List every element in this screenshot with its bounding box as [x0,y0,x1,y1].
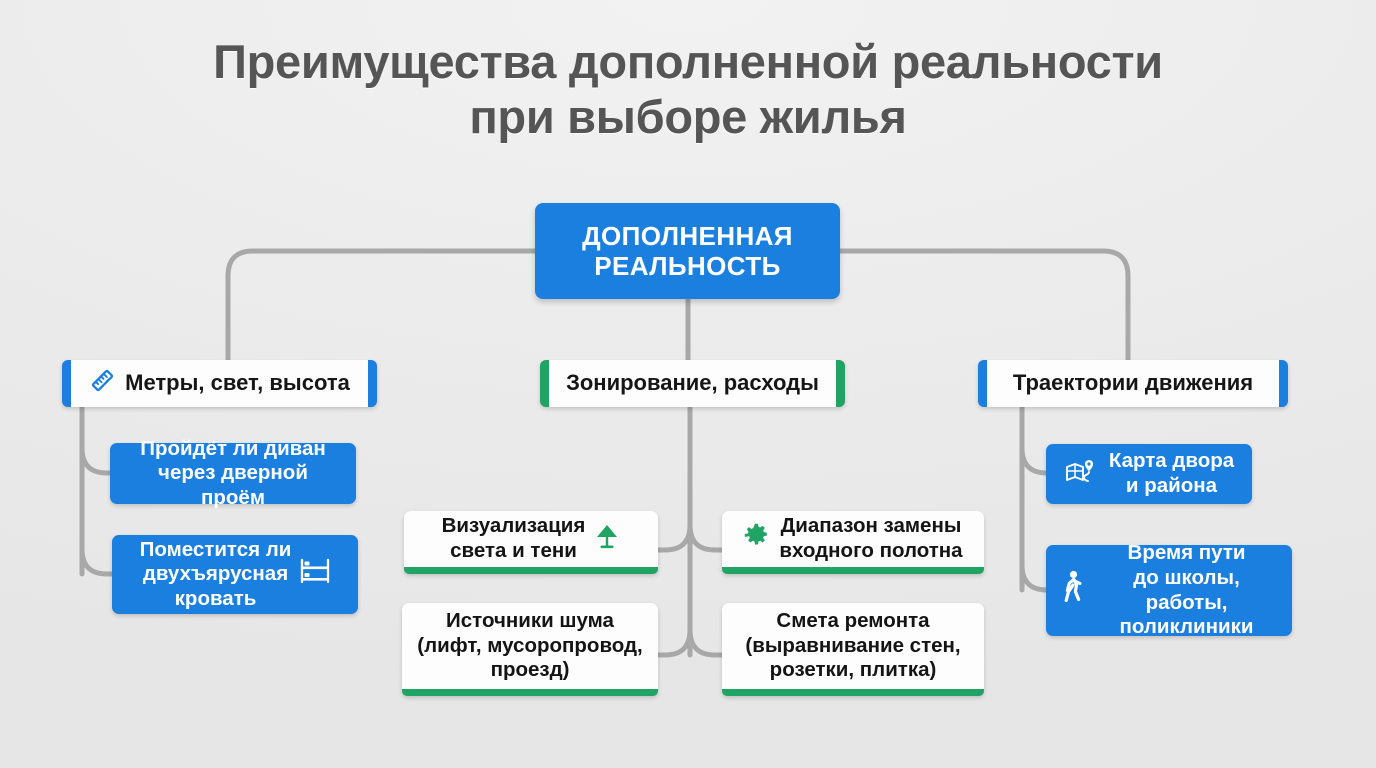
branch-header-center[interactable]: Зонирование, расходы [540,360,845,407]
leaf-right-travel-time[interactable]: Время пути до школы, работы, поликлиники [1046,545,1292,636]
lamp-icon [594,522,620,557]
branch-header-center-label: Зонирование, расходы [566,371,819,395]
leaf-right-travel-time-label: Время пути до школы, работы, поликлиники [1095,541,1278,639]
leaf-center-door-replacement-label: Диапазон замены входного полотна [779,514,962,563]
leaf-center-renovation-estimate-label: Смета ремонта (выравнивание стен, розетк… [745,609,960,683]
leaf-left-bunk-bed[interactable]: Поместится ли двухъярусная кровать [112,535,358,614]
root-node-augmented-reality[interactable]: ДОПОЛНЕННАЯ РЕАЛЬНОСТЬ [535,203,840,299]
connector-root-to-right [840,251,1128,360]
leaf-center-noise-sources[interactable]: Источники шума (лифт, мусоропровод, прое… [402,603,658,696]
leaf-right-yard-map[interactable]: Карта двора и района [1046,444,1252,504]
diagram-canvas: Преимущества дополненной реальности при … [0,0,1376,768]
connector-left-to-child-2 [82,549,112,574]
leaf-right-yard-map-label: Карта двора и района [1109,449,1234,498]
root-node-label: ДОПОЛНЕННАЯ РЕАЛЬНОСТЬ [582,221,793,281]
connector-center-to-child-2 [690,525,722,550]
connector-center-to-child-3 [658,630,690,655]
connector-center-to-child-1 [658,525,690,550]
bunk-bed-icon [300,558,330,591]
connector-root-to-left [228,251,535,360]
leaf-left-sofa-doorway[interactable]: Пройдёт ли диван через дверной проём [110,443,356,504]
leaf-center-door-replacement[interactable]: Диапазон замены входного полотна [722,511,984,574]
leaf-center-renovation-estimate[interactable]: Смета ремонта (выравнивание стен, розетк… [722,603,984,696]
walking-person-icon [1060,570,1086,611]
map-pin-icon [1064,456,1100,493]
branch-header-left-label: Метры, свет, высота [125,371,350,395]
ruler-icon [89,367,116,399]
connector-left-to-child-1 [82,448,110,473]
branch-header-right[interactable]: Траектории движения [978,360,1288,407]
branch-header-left[interactable]: Метры, свет, высота [62,360,377,407]
branch-header-right-label: Траектории движения [1013,371,1253,395]
connector-center-to-child-4 [690,630,722,655]
leaf-center-light-shadow[interactable]: Визуализация света и тени [404,511,658,574]
leaf-left-bunk-bed-label: Поместится ли двухъярусная кровать [140,538,292,612]
leaf-left-sofa-doorway-label: Пройдёт ли диван через дверной проём [124,437,342,511]
leaf-center-light-shadow-label: Визуализация света и тени [442,514,586,563]
leaf-center-noise-sources-label: Источники шума (лифт, мусоропровод, прое… [417,609,642,683]
gear-icon [743,522,770,556]
